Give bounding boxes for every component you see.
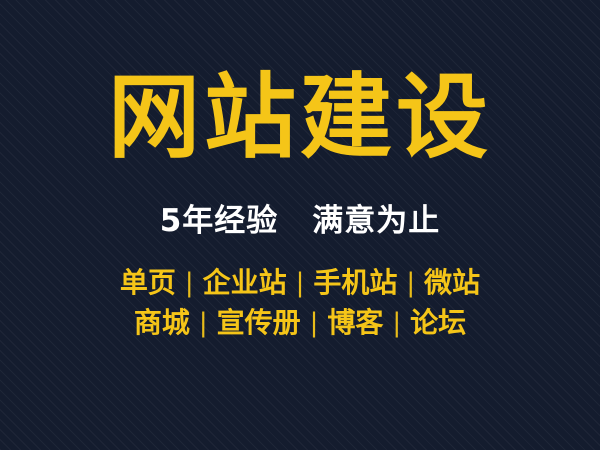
service-tag: 微站 (415, 269, 489, 297)
poster-subline: 5年经验 满意为止 (160, 206, 441, 237)
tag-separator: | (310, 310, 319, 336)
tag-separator: | (392, 310, 401, 336)
poster-canvas: 网站建设 5年经验 满意为止 单页 | 企业站 | 手机站 | 微站 商城 | … (0, 0, 600, 450)
subline-right-text: 满意为止 (312, 206, 440, 237)
tag-separator: | (406, 270, 415, 296)
poster-headline: 网站建设 (108, 72, 492, 164)
service-tag: 博客 (318, 309, 392, 337)
poster-content: 网站建设 5年经验 满意为止 单页 | 企业站 | 手机站 | 微站 商城 | … (0, 0, 600, 450)
tag-separator: | (296, 270, 305, 296)
service-tag-row: 单页 | 企业站 | 手机站 | 微站 (111, 269, 489, 297)
service-tag: 单页 (111, 269, 185, 297)
service-tag-list: 单页 | 企业站 | 手机站 | 微站 商城 | 宣传册 | 博客 | 论坛 (111, 269, 489, 337)
service-tag: 企业站 (194, 269, 296, 297)
service-tag-row: 商城 | 宣传册 | 博客 | 论坛 (125, 309, 475, 337)
service-tag: 手机站 (304, 269, 406, 297)
tag-separator: | (199, 310, 208, 336)
service-tag: 论坛 (401, 309, 475, 337)
subline-left-text: 5年经验 (160, 206, 279, 237)
service-tag: 商城 (125, 309, 199, 337)
tag-separator: | (185, 270, 194, 296)
service-tag: 宣传册 (208, 309, 310, 337)
